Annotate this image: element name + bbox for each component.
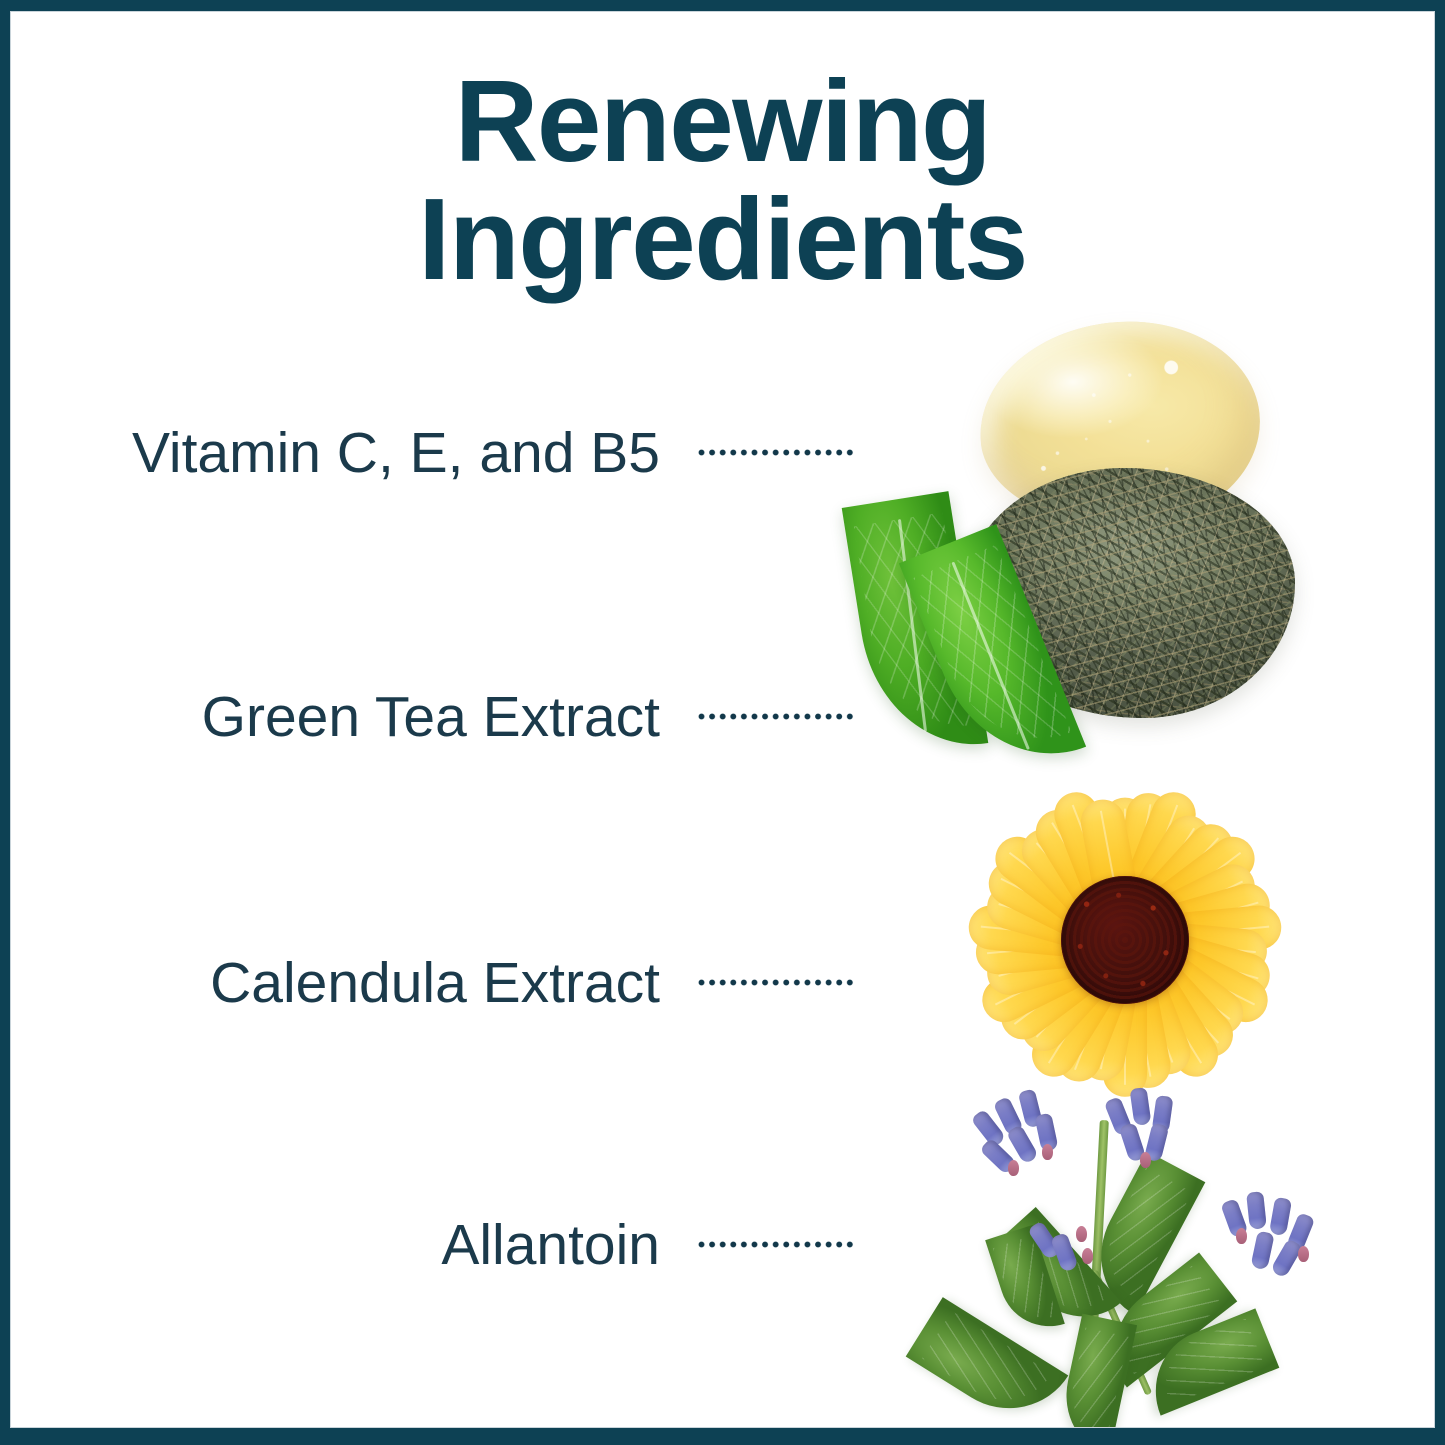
calendula-flower-center: [1061, 876, 1189, 1004]
ingredient-label: Calendula Extract: [60, 952, 660, 1014]
border-left: [0, 0, 10, 1445]
border-bottom: [0, 1428, 1445, 1445]
ingredient-label: Vitamin C, E, and B5: [60, 422, 660, 484]
renewing-ingredients-infographic: Renewing Ingredients Vitamin C, E, and B…: [0, 0, 1445, 1445]
ingredient-label: Green Tea Extract: [60, 686, 660, 748]
ingredient-row-calendula: Calendula Extract: [60, 948, 860, 1018]
dotted-leader-icon: [698, 1241, 856, 1249]
dotted-leader-icon: [698, 713, 856, 721]
comfrey-plant-icon: [940, 1080, 1370, 1435]
dotted-leader-icon: [698, 979, 856, 987]
page-title-line-2: Ingredients: [0, 180, 1445, 298]
ingredient-label: Allantoin: [60, 1214, 660, 1276]
page-title: Renewing Ingredients: [0, 62, 1445, 298]
ingredient-row-allantoin: Allantoin: [60, 1210, 860, 1280]
dotted-leader-icon: [698, 449, 856, 457]
ingredient-row-green-tea: Green Tea Extract: [60, 682, 860, 752]
border-right: [1435, 0, 1445, 1445]
border-top: [0, 0, 1445, 11]
page-title-line-1: Renewing: [0, 62, 1445, 180]
ingredient-row-vitamin: Vitamin C, E, and B5: [60, 418, 860, 488]
ingredient-collage-image: [845, 300, 1390, 1435]
